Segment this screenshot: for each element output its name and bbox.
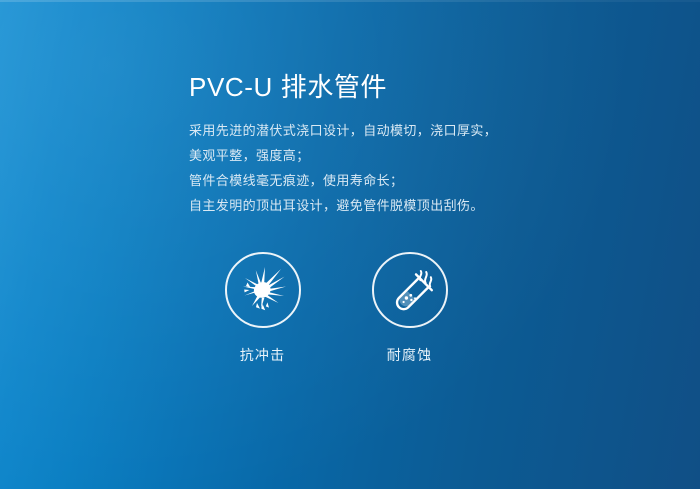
page-title: PVC-U 排水管件 <box>189 70 619 104</box>
feature-item-corrosion-resistance: 耐腐蚀 <box>336 252 483 365</box>
feature-icon-frame <box>225 252 301 328</box>
test-tube-icon <box>384 264 436 316</box>
description-line: 管件合模线毫无痕迹，使用寿命长； <box>189 168 619 193</box>
description-line: 采用先进的潜伏式浇口设计，自动模切，浇口厚实， <box>189 118 619 143</box>
description-line: 自主发明的顶出耳设计，避免管件脱模顶出刮伤。 <box>189 193 619 218</box>
feature-item-impact-resistance: 抗冲击 <box>189 252 336 365</box>
banner-text-block: PVC-U 排水管件 采用先进的潜伏式浇口设计，自动模切，浇口厚实， 美观平整，… <box>189 70 619 218</box>
feature-label: 抗冲击 <box>240 345 286 365</box>
feature-list: 抗冲击 <box>189 252 483 365</box>
product-banner: PVC-U 排水管件 采用先进的潜伏式浇口设计，自动模切，浇口厚实， 美观平整，… <box>0 0 700 489</box>
description-list: 采用先进的潜伏式浇口设计，自动模切，浇口厚实， 美观平整，强度高； 管件合模线毫… <box>189 118 619 218</box>
feature-icon-frame <box>372 252 448 328</box>
impact-burst-icon <box>237 264 289 316</box>
feature-label: 耐腐蚀 <box>387 345 433 365</box>
description-line: 美观平整，强度高； <box>189 143 619 168</box>
top-edge-highlight <box>0 0 700 2</box>
